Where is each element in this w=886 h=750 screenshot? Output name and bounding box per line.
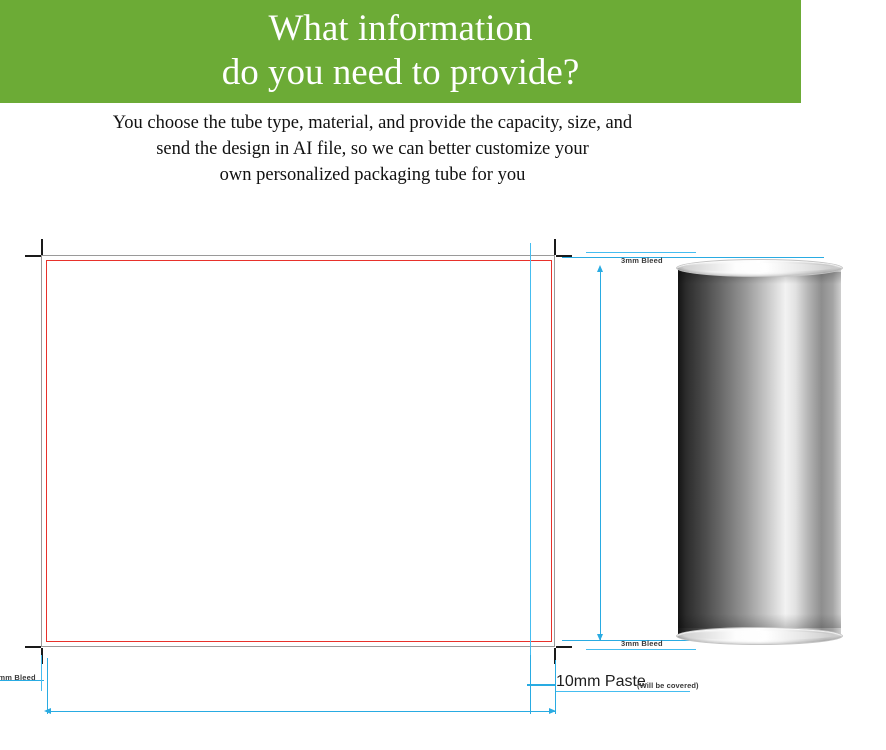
paste-label: 10mm Paste (556, 673, 646, 691)
width-dimension-arrow-left (44, 708, 51, 714)
tube-body (678, 268, 841, 638)
bleed-bottom-label: 3mm Bleed (621, 639, 663, 648)
bleed-top-underline (586, 252, 696, 253)
paste-underline (556, 691, 690, 692)
bleed-bottom-underline (586, 649, 696, 650)
bleed-left-label: 3mm Bleed (0, 673, 36, 682)
crop-mark-top-left-horizontal (25, 255, 41, 257)
artboard-left-guide-line (41, 655, 42, 691)
extension-line-left (47, 658, 48, 714)
slide-root: What information do you need to provide?… (0, 0, 886, 750)
panel-guide-line (530, 243, 531, 655)
tube-cap-top (676, 259, 843, 277)
tube-cap-bottom (676, 627, 843, 645)
tube-cap-bottom-highlight (683, 631, 834, 640)
height-dimension-line (600, 268, 601, 640)
crop-mark-top-right-vertical (554, 239, 556, 255)
crop-mark-bottom-left-horizontal (25, 646, 41, 648)
width-dimension-line (47, 711, 555, 712)
height-dimension-arrow-bottom (597, 634, 603, 641)
safe-area-rectangle (46, 260, 552, 642)
tube-bottom-shading (678, 614, 841, 628)
tube-cap-top-highlight (683, 263, 834, 272)
height-dimension-arrow-top (597, 265, 603, 272)
paste-note-label: (Will be covered) (637, 681, 699, 690)
crop-mark-top-left-vertical (41, 239, 43, 255)
tube-preview (678, 258, 841, 646)
bleed-top-label: 3mm Bleed (621, 256, 663, 265)
paste-leader-line (527, 684, 555, 686)
width-dimension-arrow-right (549, 708, 556, 714)
crop-mark-bottom-right-horizontal (556, 646, 572, 648)
